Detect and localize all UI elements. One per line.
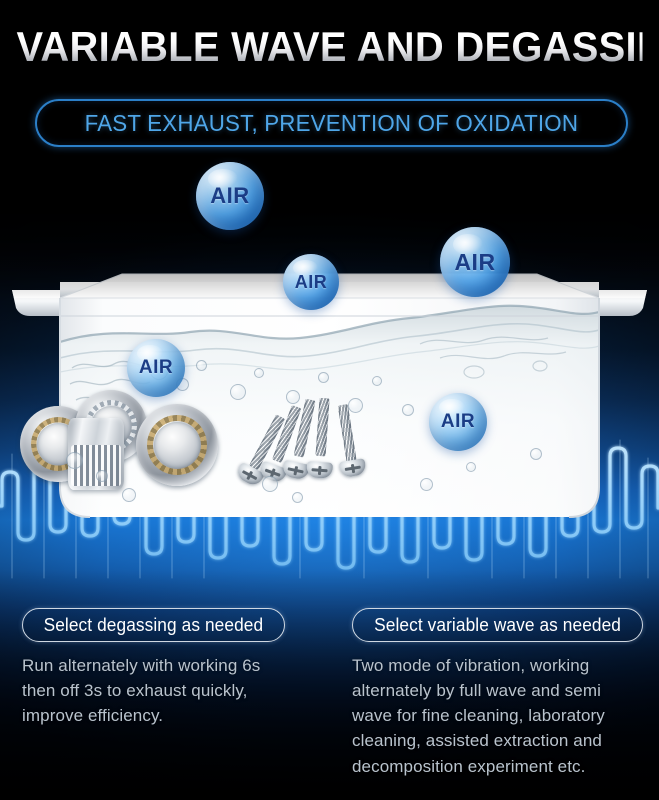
feature-heading-pill-degassing: Select degassing as needed: [22, 608, 285, 642]
air-bubble-label: AIR: [441, 411, 475, 433]
air-bubble-label: AIR: [454, 249, 495, 276]
air-bubble-label: AIR: [139, 357, 173, 379]
subtitle-text: FAST EXHAUST, PREVENTION OF OXIDATION: [85, 110, 579, 137]
feature-body-degassing: Run alternately with working 6s then off…: [22, 653, 332, 728]
feature-heading-degassing: Select degassing as needed: [44, 615, 264, 636]
ultrasonic-cleaner-tank: [0, 272, 659, 537]
feature-body-line: cleaning, assisted extraction and: [352, 728, 652, 753]
air-bubble: AIR: [440, 227, 510, 297]
product-poster: AIR AIR AIR AIR AIR VARIABLE WAVE AND DE…: [0, 0, 659, 800]
feature-body-line: then off 3s to exhaust quickly,: [22, 678, 332, 703]
air-bubble-label: AIR: [295, 272, 328, 293]
air-bubble: AIR: [127, 339, 185, 397]
subtitle-pill: FAST EXHAUST, PREVENTION OF OXIDATION: [35, 99, 628, 147]
page-title: VARIABLE WAVE AND DEGASSING: [16, 26, 642, 68]
feature-body-line: decomposition experiment etc.: [352, 754, 652, 779]
feature-column-degassing: Select degassing as needed Run alternate…: [22, 608, 332, 728]
feature-column-variable-wave: Select variable wave as needed Two mode …: [352, 608, 652, 779]
feature-body-line: Run alternately with working 6s: [22, 653, 332, 678]
air-bubble: AIR: [283, 254, 339, 310]
feature-heading-pill-variable-wave: Select variable wave as needed: [352, 608, 643, 642]
air-bubble-label: AIR: [210, 183, 249, 209]
air-bubble: AIR: [429, 393, 487, 451]
feature-heading-variable-wave: Select variable wave as needed: [374, 615, 621, 636]
air-bubble: AIR: [196, 162, 264, 230]
feature-body-line: wave for fine cleaning, laboratory: [352, 703, 652, 728]
feature-body-line: improve efficiency.: [22, 703, 332, 728]
feature-body-variable-wave: Two mode of vibration, working alternate…: [352, 653, 652, 779]
feature-body-line: alternately by full wave and semi: [352, 678, 652, 703]
feature-body-line: Two mode of vibration, working: [352, 653, 652, 678]
